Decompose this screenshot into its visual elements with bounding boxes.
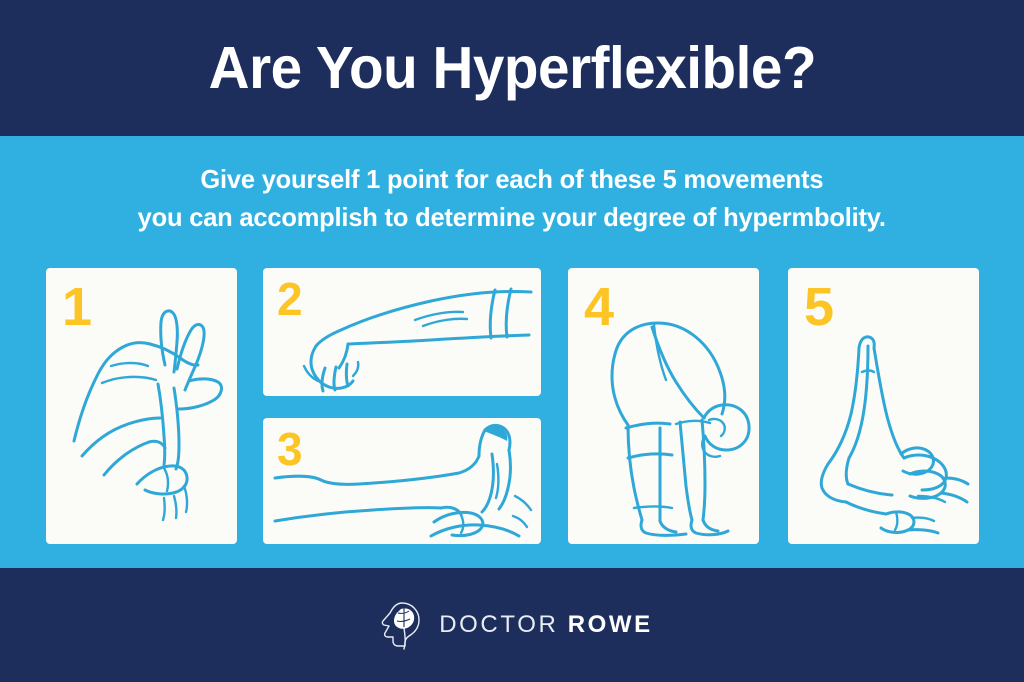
movement-card-2: 2: [263, 268, 541, 396]
brand-lockup: DOCTOR ROWE: [371, 597, 653, 653]
wrist-flexion-illustration: [263, 268, 541, 396]
page-title: Are You Hyperflexible?: [208, 39, 815, 98]
head-brain-logo: [371, 597, 423, 653]
hyperflexibility-infographic: Are You Hyperflexible? Give yourself 1 p…: [0, 0, 1024, 682]
subtitle-line-1: Give yourself 1 point for each of these …: [201, 160, 824, 198]
brand-word-rowe: ROWE: [568, 611, 653, 638]
forward-bend-illustration: [568, 268, 759, 544]
movement-card-4: 4: [568, 268, 759, 544]
movement-cards-region: 1: [0, 260, 1024, 568]
brand-word-doctor: DOCTOR: [439, 611, 558, 638]
movement-card-1: 1: [46, 268, 237, 544]
movement-card-3: 3: [263, 418, 541, 544]
header-band: Are You Hyperflexible?: [0, 0, 1024, 136]
footer-band: DOCTOR ROWE: [0, 568, 1024, 682]
subtitle-area: Give yourself 1 point for each of these …: [0, 136, 1024, 260]
subtitle-line-2: you can accomplish to determine your deg…: [138, 198, 886, 236]
brand-name: DOCTOR ROWE: [439, 611, 653, 639]
pinky-hyperextension-illustration: [788, 268, 979, 544]
elbow-hyperextension-illustration: [263, 418, 541, 544]
thumb-to-forearm-illustration: [46, 268, 237, 544]
movement-card-5: 5: [788, 268, 979, 544]
